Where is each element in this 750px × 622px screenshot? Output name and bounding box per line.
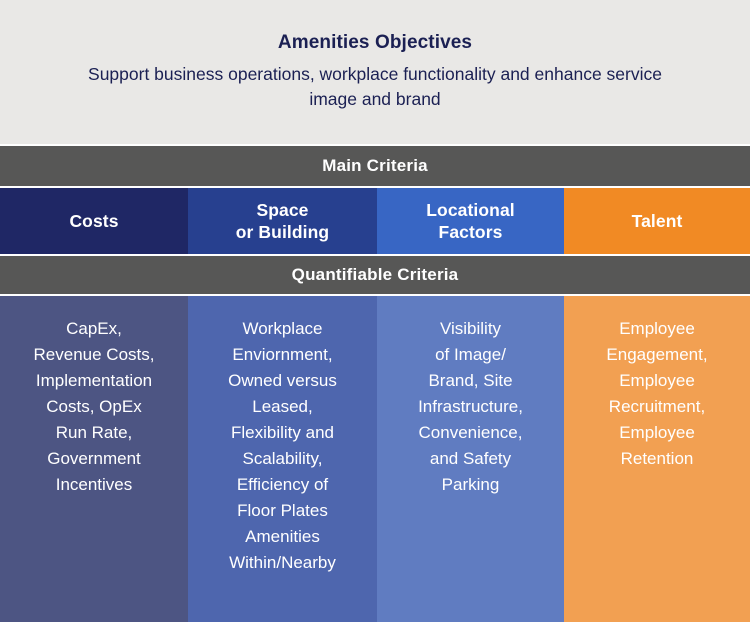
column-header-space-or-building[interactable]: Space or Building [188, 188, 377, 254]
amenities-objectives-diagram: Amenities Objectives Support business op… [0, 0, 750, 622]
column-header-costs[interactable]: Costs [0, 188, 188, 254]
page-subtitle: Support business operations, workplace f… [75, 62, 675, 113]
column-header-label: Talent [626, 210, 689, 232]
column-body-talent: Employee Engagement, Employee Recruitmen… [564, 296, 750, 622]
quantifiable-criteria-label: Quantifiable Criteria [292, 265, 459, 285]
criteria-header-row: Costs Space or Building Locational Facto… [0, 188, 750, 254]
column-header-label: Costs [63, 210, 124, 232]
column-body-locational-factors: Visibility of Image/ Brand, Site Infrast… [377, 296, 564, 622]
quantifiable-criteria-band: Quantifiable Criteria [0, 254, 750, 296]
column-header-talent[interactable]: Talent [564, 188, 750, 254]
column-header-locational-factors[interactable]: Locational Factors [377, 188, 564, 254]
column-body-costs: CapEx, Revenue Costs, Implementation Cos… [0, 296, 188, 622]
column-header-label: Locational Factors [420, 199, 521, 244]
objectives-header-panel: Amenities Objectives Support business op… [0, 0, 750, 144]
column-body-text: Visibility of Image/ Brand, Site Infrast… [418, 316, 523, 622]
main-criteria-label: Main Criteria [322, 156, 428, 176]
column-header-label: Space or Building [230, 199, 335, 244]
main-criteria-band: Main Criteria [0, 144, 750, 188]
column-body-space-or-building: Workplace Enviornment, Owned versus Leas… [188, 296, 377, 622]
page-title: Amenities Objectives [278, 31, 472, 55]
column-body-text: Workplace Enviornment, Owned versus Leas… [228, 316, 337, 622]
criteria-body-row: CapEx, Revenue Costs, Implementation Cos… [0, 296, 750, 622]
column-body-text: CapEx, Revenue Costs, Implementation Cos… [34, 316, 155, 622]
column-body-text: Employee Engagement, Employee Recruitmen… [606, 316, 707, 622]
